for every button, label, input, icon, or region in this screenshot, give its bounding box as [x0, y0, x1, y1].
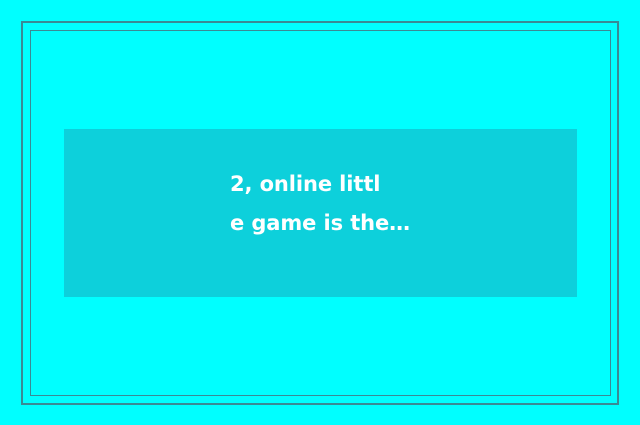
screenshot-canvas: 2, online littl e game is the…: [0, 0, 640, 425]
text-card-panel: 2, online littl e game is the…: [64, 129, 577, 297]
card-text: 2, online littl e game is the…: [230, 165, 560, 243]
